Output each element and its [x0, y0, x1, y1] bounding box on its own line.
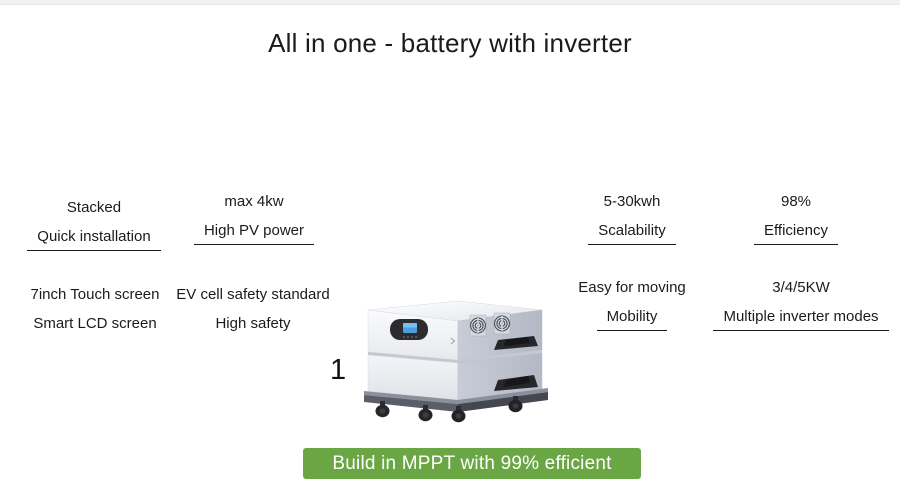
- feature-name: Efficiency: [754, 221, 838, 245]
- product-image-stacked-battery: [362, 288, 562, 423]
- feature-spec: 3/4/5KW: [712, 278, 890, 298]
- feature-spec: 98%: [722, 192, 870, 212]
- fan-grille-right: [494, 313, 510, 334]
- slide-canvas: All in one - battery with inverter Stack…: [0, 0, 900, 502]
- feature-name: High PV power: [194, 221, 314, 245]
- feature-mobility: Easy for moving Mobility: [556, 278, 708, 331]
- feature-scalability: 5-30kwh Scalability: [558, 192, 706, 245]
- feature-high-safety: EV cell safety standard High safety: [168, 285, 338, 337]
- feature-multiple-inverter-modes: 3/4/5KW Multiple inverter modes: [712, 278, 890, 331]
- fan-grille-left: [470, 315, 486, 336]
- feature-name: Scalability: [588, 221, 676, 245]
- lcd-screen-panel: [390, 319, 428, 340]
- feature-spec: 5-30kwh: [558, 192, 706, 212]
- feature-efficiency: 98% Efficiency: [722, 192, 870, 245]
- feature-spec: 7inch Touch screen: [14, 285, 176, 305]
- mppt-banner: Build in MPPT with 99% efficient: [303, 448, 641, 479]
- feature-quick-installation: Stacked Quick installation: [18, 198, 170, 251]
- product-number-label: 1: [330, 356, 346, 385]
- top-edge-strip: [0, 0, 900, 5]
- feature-name: Multiple inverter modes: [713, 307, 888, 331]
- feature-name: Mobility: [597, 307, 668, 331]
- feature-spec: EV cell safety standard: [168, 285, 338, 305]
- feature-spec: Stacked: [18, 198, 170, 218]
- feature-name: Smart LCD screen: [23, 314, 166, 337]
- feature-name: High safety: [205, 314, 300, 337]
- feature-smart-lcd-screen: 7inch Touch screen Smart LCD screen: [14, 285, 176, 337]
- feature-high-pv-power: max 4kw High PV power: [178, 192, 330, 245]
- feature-name: Quick installation: [27, 227, 160, 251]
- feature-spec: max 4kw: [178, 192, 330, 212]
- page-title: All in one - battery with inverter: [0, 28, 900, 59]
- feature-spec: Easy for moving: [556, 278, 708, 298]
